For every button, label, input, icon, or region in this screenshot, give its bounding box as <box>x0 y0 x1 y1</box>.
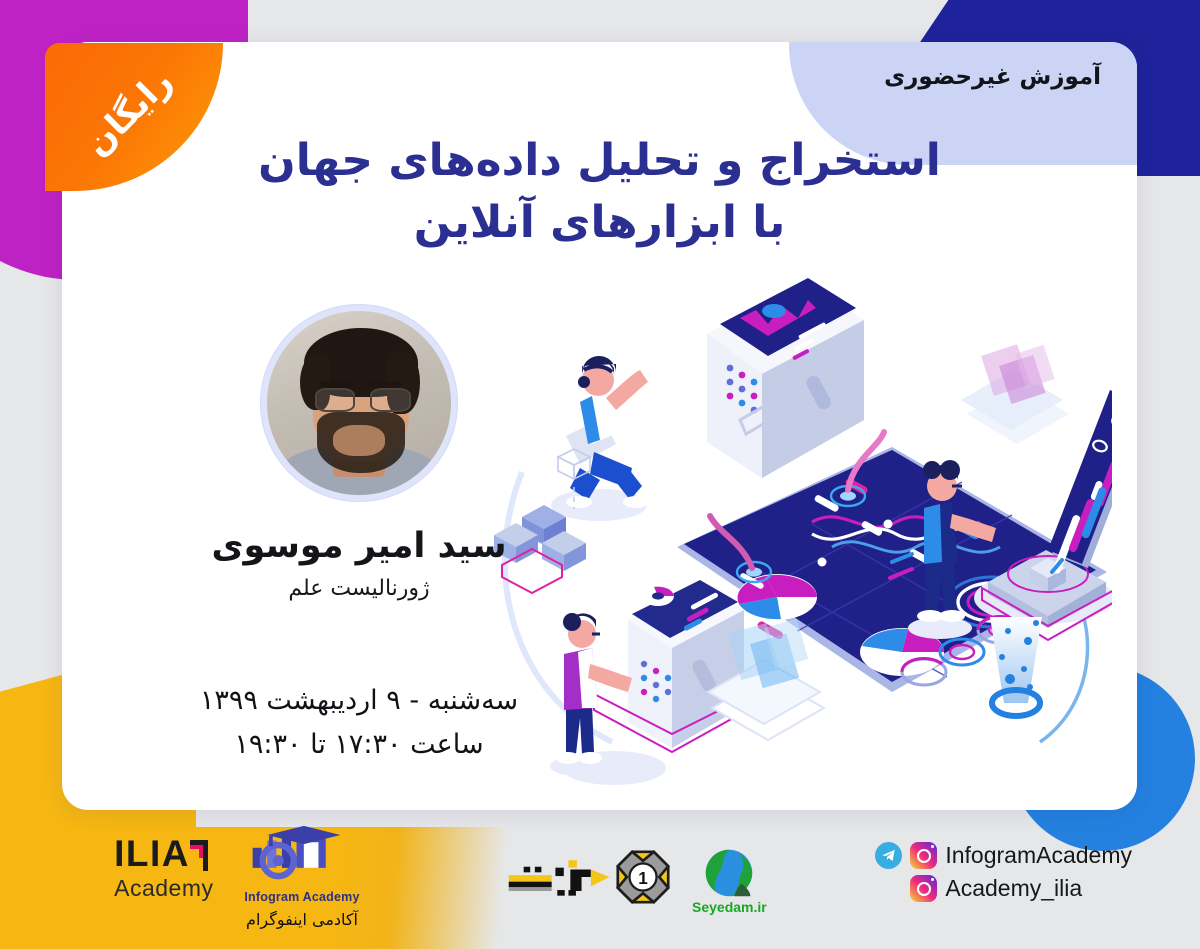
event-time: ساعت ۱۷:۳۰ تا ۱۹:۳۰ <box>180 723 538 767</box>
yektanet-logo-mark <box>505 856 617 898</box>
data-analytics-illustration <box>492 272 1112 802</box>
svg-text:1: 1 <box>638 869 648 888</box>
ilia-logo-sub: Academy <box>114 875 216 902</box>
yektanet-logo <box>505 856 617 898</box>
ilia-arrow-icon <box>188 838 214 872</box>
social-row-ilia[interactable]: Academy_ilia <box>875 875 1132 902</box>
octagon-logo-mark: 1 <box>616 850 670 904</box>
social-spacer <box>875 875 902 902</box>
social-handle-ilia[interactable]: Academy_ilia <box>945 875 1082 902</box>
speaker-block: سید امیر موسوی ژورنالیست علم سه‌شنبه - ۹… <box>180 304 538 766</box>
event-date: سه‌شنبه - ۹ اردیبهشت ۱۳۹۹ <box>180 679 538 723</box>
infogram-logo-fa: آکادمی اینفوگرام <box>232 910 372 929</box>
page-title: استخراج و تحلیل داده‌های جهان با ابزارها… <box>62 130 1137 253</box>
avatar-ring <box>260 304 458 502</box>
seyedam-logo: Seyedam.ir <box>692 848 767 915</box>
webinar-poster: آموزش غیرحضوری استخراج و تحلیل داده‌های … <box>0 0 1200 949</box>
title-line-2: با ابزارهای آنلاین <box>62 192 1137 254</box>
mode-label: آموزش غیرحضوری <box>884 64 1101 90</box>
speaker-role: ژورنالیست علم <box>180 576 538 601</box>
octagon-one-logo: 1 <box>616 850 670 904</box>
avatar <box>267 311 451 495</box>
free-badge-label: رایگان <box>78 62 181 165</box>
seyedam-label: Seyedam.ir <box>692 899 767 915</box>
social-row-infogram[interactable]: InfogramAcademy <box>875 842 1132 869</box>
poster-card: آموزش غیرحضوری استخراج و تحلیل داده‌های … <box>62 42 1137 810</box>
instagram-icon[interactable] <box>910 875 937 902</box>
ilia-logo-word: ILIA <box>114 835 190 872</box>
instagram-icon[interactable] <box>910 842 937 869</box>
social-links: InfogramAcademy Academy_ilia <box>875 842 1132 908</box>
ilia-academy-logo: ILIA Academy <box>92 832 216 902</box>
social-handle-infogram[interactable]: InfogramAcademy <box>945 842 1132 869</box>
infogram-logo-mark <box>232 824 372 888</box>
infogram-logo-en: Infogram Academy <box>232 890 372 904</box>
seyedam-globe-icon <box>692 848 767 898</box>
infogram-academy-logo: Infogram Academy آکادمی اینفوگرام <box>232 824 372 929</box>
telegram-icon[interactable] <box>875 842 902 869</box>
title-line-1: استخراج و تحلیل داده‌های جهان <box>258 135 941 186</box>
poster-footer: ILIA Academy <box>0 810 1200 949</box>
ilia-logo-mark: ILIA <box>114 832 216 872</box>
speaker-name: سید امیر موسوی <box>180 526 538 566</box>
